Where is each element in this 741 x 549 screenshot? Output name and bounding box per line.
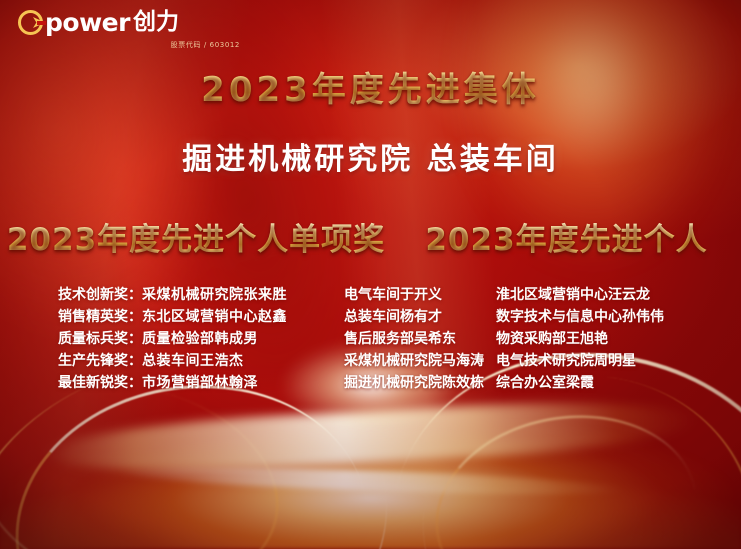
section-heading-row: 2023年度先进个人单项奖 2023年度先进个人 — [0, 214, 741, 259]
award-category: 质量标兵奖： — [58, 331, 142, 347]
award-row: 技术创新奖：采煤机械研究院张来胜 — [58, 284, 330, 306]
award-row: 最佳新锐奖：市场营销部林翰泽 — [58, 372, 330, 394]
page-title: 2023年度先进集体 — [0, 62, 741, 111]
page-subtitle: 掘进机械研究院 总装车间 — [0, 134, 741, 178]
section-heading-single-awards: 2023年度先进个人单项奖 — [7, 222, 385, 258]
award-category: 销售精英奖： — [58, 309, 142, 325]
individual-row: 售后服务部吴希东物资采购部王旭艳 — [344, 328, 741, 350]
individual-name-right: 淮北区域营销中心汪云龙 — [496, 284, 741, 306]
individual-name-left: 采煤机械研究院马海涛 — [344, 350, 496, 372]
award-category: 最佳新锐奖： — [58, 375, 142, 391]
award-recipient: 总装车间王浩杰 — [142, 353, 244, 369]
single-award-list: 技术创新奖：采煤机械研究院张来胜销售精英奖：东北区域营销中心赵鑫质量标兵奖：质量… — [0, 284, 330, 394]
logo-wordmark-cn: 创力 — [133, 11, 179, 34]
award-row: 销售精英奖：东北区域营销中心赵鑫 — [58, 306, 330, 328]
advanced-individual-list: 电气车间于开义淮北区域营销中心汪云龙总装车间杨有才数字技术与信息中心孙伟伟售后服… — [330, 284, 741, 394]
award-row: 质量标兵奖：质量检验部韩成男 — [58, 328, 330, 350]
individual-name-right: 数字技术与信息中心孙伟伟 — [496, 306, 741, 328]
individual-name-left: 售后服务部吴希东 — [344, 328, 496, 350]
award-recipient: 采煤机械研究院张来胜 — [142, 287, 287, 303]
individual-name-left: 电气车间于开义 — [344, 284, 496, 306]
individual-name-right: 电气技术研究院周明星 — [496, 350, 741, 372]
award-recipient: 质量检验部韩成男 — [142, 331, 258, 347]
individual-name-left: 掘进机械研究院陈效栋 — [344, 372, 496, 394]
award-category: 技术创新奖： — [58, 287, 142, 303]
individual-name-right: 物资采购部王旭艳 — [496, 328, 741, 350]
award-lists: 技术创新奖：采煤机械研究院张来胜销售精英奖：东北区域营销中心赵鑫质量标兵奖：质量… — [0, 284, 741, 394]
individual-row: 电气车间于开义淮北区域营销中心汪云龙 — [344, 284, 741, 306]
award-category: 生产先锋奖： — [58, 353, 142, 369]
logo-stock-code: 股票代码 / 603012 — [18, 40, 258, 50]
individual-row: 掘进机械研究院陈效栋综合办公室梁霞 — [344, 372, 741, 394]
company-logo: power 创力 股票代码 / 603012 — [18, 10, 258, 50]
individual-name-left: 总装车间杨有才 — [344, 306, 496, 328]
award-poster: power 创力 股票代码 / 603012 2023年度先进集体 掘进机械研究… — [0, 0, 741, 549]
award-recipient: 市场营销部林翰泽 — [142, 375, 258, 391]
section-heading-advanced-individuals: 2023年度先进个人 — [425, 222, 707, 258]
logo-wordmark: power — [45, 10, 130, 35]
individual-row: 采煤机械研究院马海涛电气技术研究院周明星 — [344, 350, 741, 372]
individual-row: 总装车间杨有才数字技术与信息中心孙伟伟 — [344, 306, 741, 328]
award-recipient: 东北区域营销中心赵鑫 — [142, 309, 287, 325]
award-row: 生产先锋奖：总装车间王浩杰 — [58, 350, 330, 372]
power-circle-icon — [18, 10, 43, 35]
individual-name-right: 综合办公室梁霞 — [496, 372, 741, 394]
